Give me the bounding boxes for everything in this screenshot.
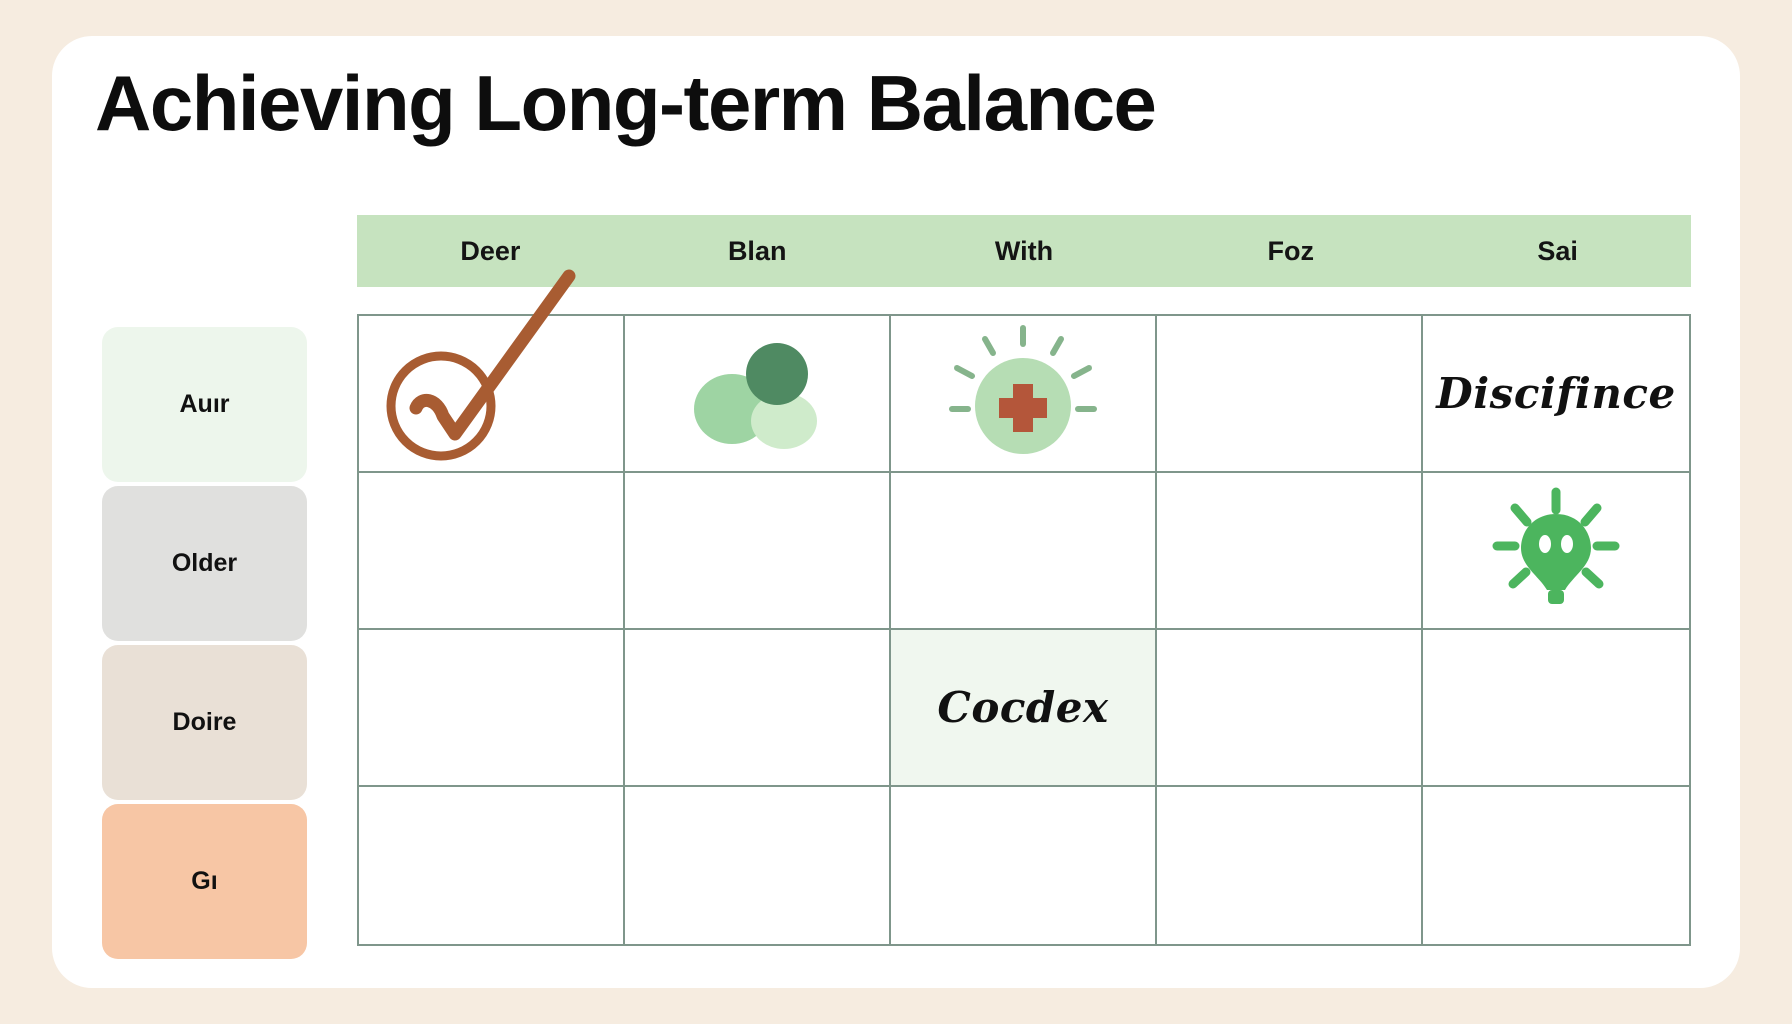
lightbulb-icon [1491, 486, 1621, 616]
row-label-gl[interactable]: Gı [102, 804, 307, 959]
cell-gl-sai[interactable] [1423, 787, 1689, 944]
cell-auir-sai[interactable]: Discifince [1423, 316, 1689, 473]
cell-gl-blan[interactable] [625, 787, 891, 944]
column-header-text: Sai [1537, 236, 1578, 267]
column-header-band: Deer Blan With Foz Sai [357, 215, 1691, 287]
page-title: Achieving Long-term Balance [95, 58, 1155, 149]
cell-auir-deer[interactable] [359, 316, 625, 473]
cell-doire-foz[interactable] [1157, 630, 1423, 787]
column-header-text: With [995, 236, 1053, 267]
cell-doire-blan[interactable] [625, 630, 891, 787]
cell-doire-sai[interactable] [1423, 630, 1689, 787]
cell-doire-deer[interactable] [359, 630, 625, 787]
cell-older-foz[interactable] [1157, 473, 1423, 630]
column-header-blan[interactable]: Blan [624, 215, 891, 287]
column-header-deer[interactable]: Deer [357, 215, 624, 287]
poster-canvas: Achieving Long-term Balance Auır Older D… [0, 0, 1792, 1024]
row-label-text: Gı [191, 867, 217, 896]
column-header-with[interactable]: With [891, 215, 1158, 287]
row-label-auir[interactable]: Auır [102, 327, 307, 482]
cell-gl-deer[interactable] [359, 787, 625, 944]
column-header-text: Foz [1268, 236, 1315, 267]
blob-cluster-icon [692, 339, 822, 449]
cell-gl-with[interactable] [891, 787, 1157, 944]
cell-gl-foz[interactable] [1157, 787, 1423, 944]
row-label-doire[interactable]: Doire [102, 645, 307, 800]
cell-older-deer[interactable] [359, 473, 625, 630]
plus-badge-icon [948, 324, 1098, 464]
column-header-sai[interactable]: Sai [1424, 215, 1691, 287]
row-label-older[interactable]: Older [102, 486, 307, 641]
cell-script-text: Discifince [1436, 369, 1675, 418]
cell-auir-blan[interactable] [625, 316, 891, 473]
cell-doire-with[interactable]: Cocdex [891, 630, 1157, 787]
row-label-text: Doire [173, 708, 237, 737]
cell-auir-foz[interactable] [1157, 316, 1423, 473]
matrix-grid: Discifince [357, 314, 1691, 946]
column-header-foz[interactable]: Foz [1157, 215, 1424, 287]
cell-script-text: Cocdex [937, 683, 1108, 732]
column-header-text: Deer [460, 236, 520, 267]
cell-older-blan[interactable] [625, 473, 891, 630]
cell-older-with[interactable] [891, 473, 1157, 630]
cell-older-sai[interactable] [1423, 473, 1689, 630]
column-header-text: Blan [728, 236, 787, 267]
row-label-text: Auır [180, 390, 230, 419]
row-label-text: Older [172, 549, 237, 578]
cell-auir-with[interactable] [891, 316, 1157, 473]
